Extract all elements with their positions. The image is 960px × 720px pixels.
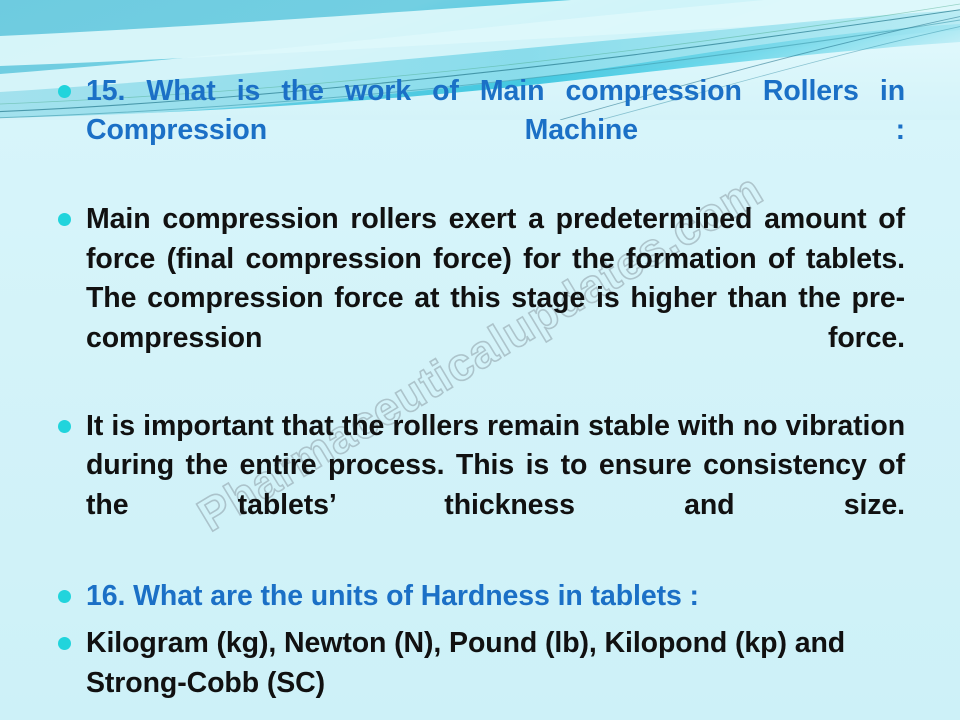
- bullet-item-answer-15-para-1: Main compression rollers exert a predete…: [0, 200, 960, 397]
- question-15-text: 15. What is the work of Main compression…: [86, 72, 905, 190]
- slide-canvas: Pharmaceuticalupdates.com 15. What is th…: [0, 0, 960, 720]
- slide-body: 15. What is the work of Main compression…: [0, 72, 960, 707]
- bullet-item-question-15: 15. What is the work of Main compression…: [0, 72, 960, 190]
- bullet-dot-icon: [58, 420, 71, 433]
- question-16-text: 16. What are the units of Hardness in ta…: [86, 577, 905, 616]
- answer-16-text: Kilogram (kg), Newton (N), Pound (lb), K…: [86, 624, 905, 703]
- bullet-dot-icon: [58, 85, 71, 98]
- answer-15-para-2-text: It is important that the rollers remain …: [86, 407, 905, 565]
- bullet-dot-icon: [58, 590, 71, 603]
- answer-15-para-1-text: Main compression rollers exert a predete…: [86, 200, 905, 397]
- bullet-item-question-16: 16. What are the units of Hardness in ta…: [0, 577, 960, 616]
- bullet-dot-icon: [58, 637, 71, 650]
- bullet-item-answer-16: Kilogram (kg), Newton (N), Pound (lb), K…: [0, 624, 960, 703]
- bullet-item-answer-15-para-2: It is important that the rollers remain …: [0, 407, 960, 565]
- bullet-dot-icon: [58, 213, 71, 226]
